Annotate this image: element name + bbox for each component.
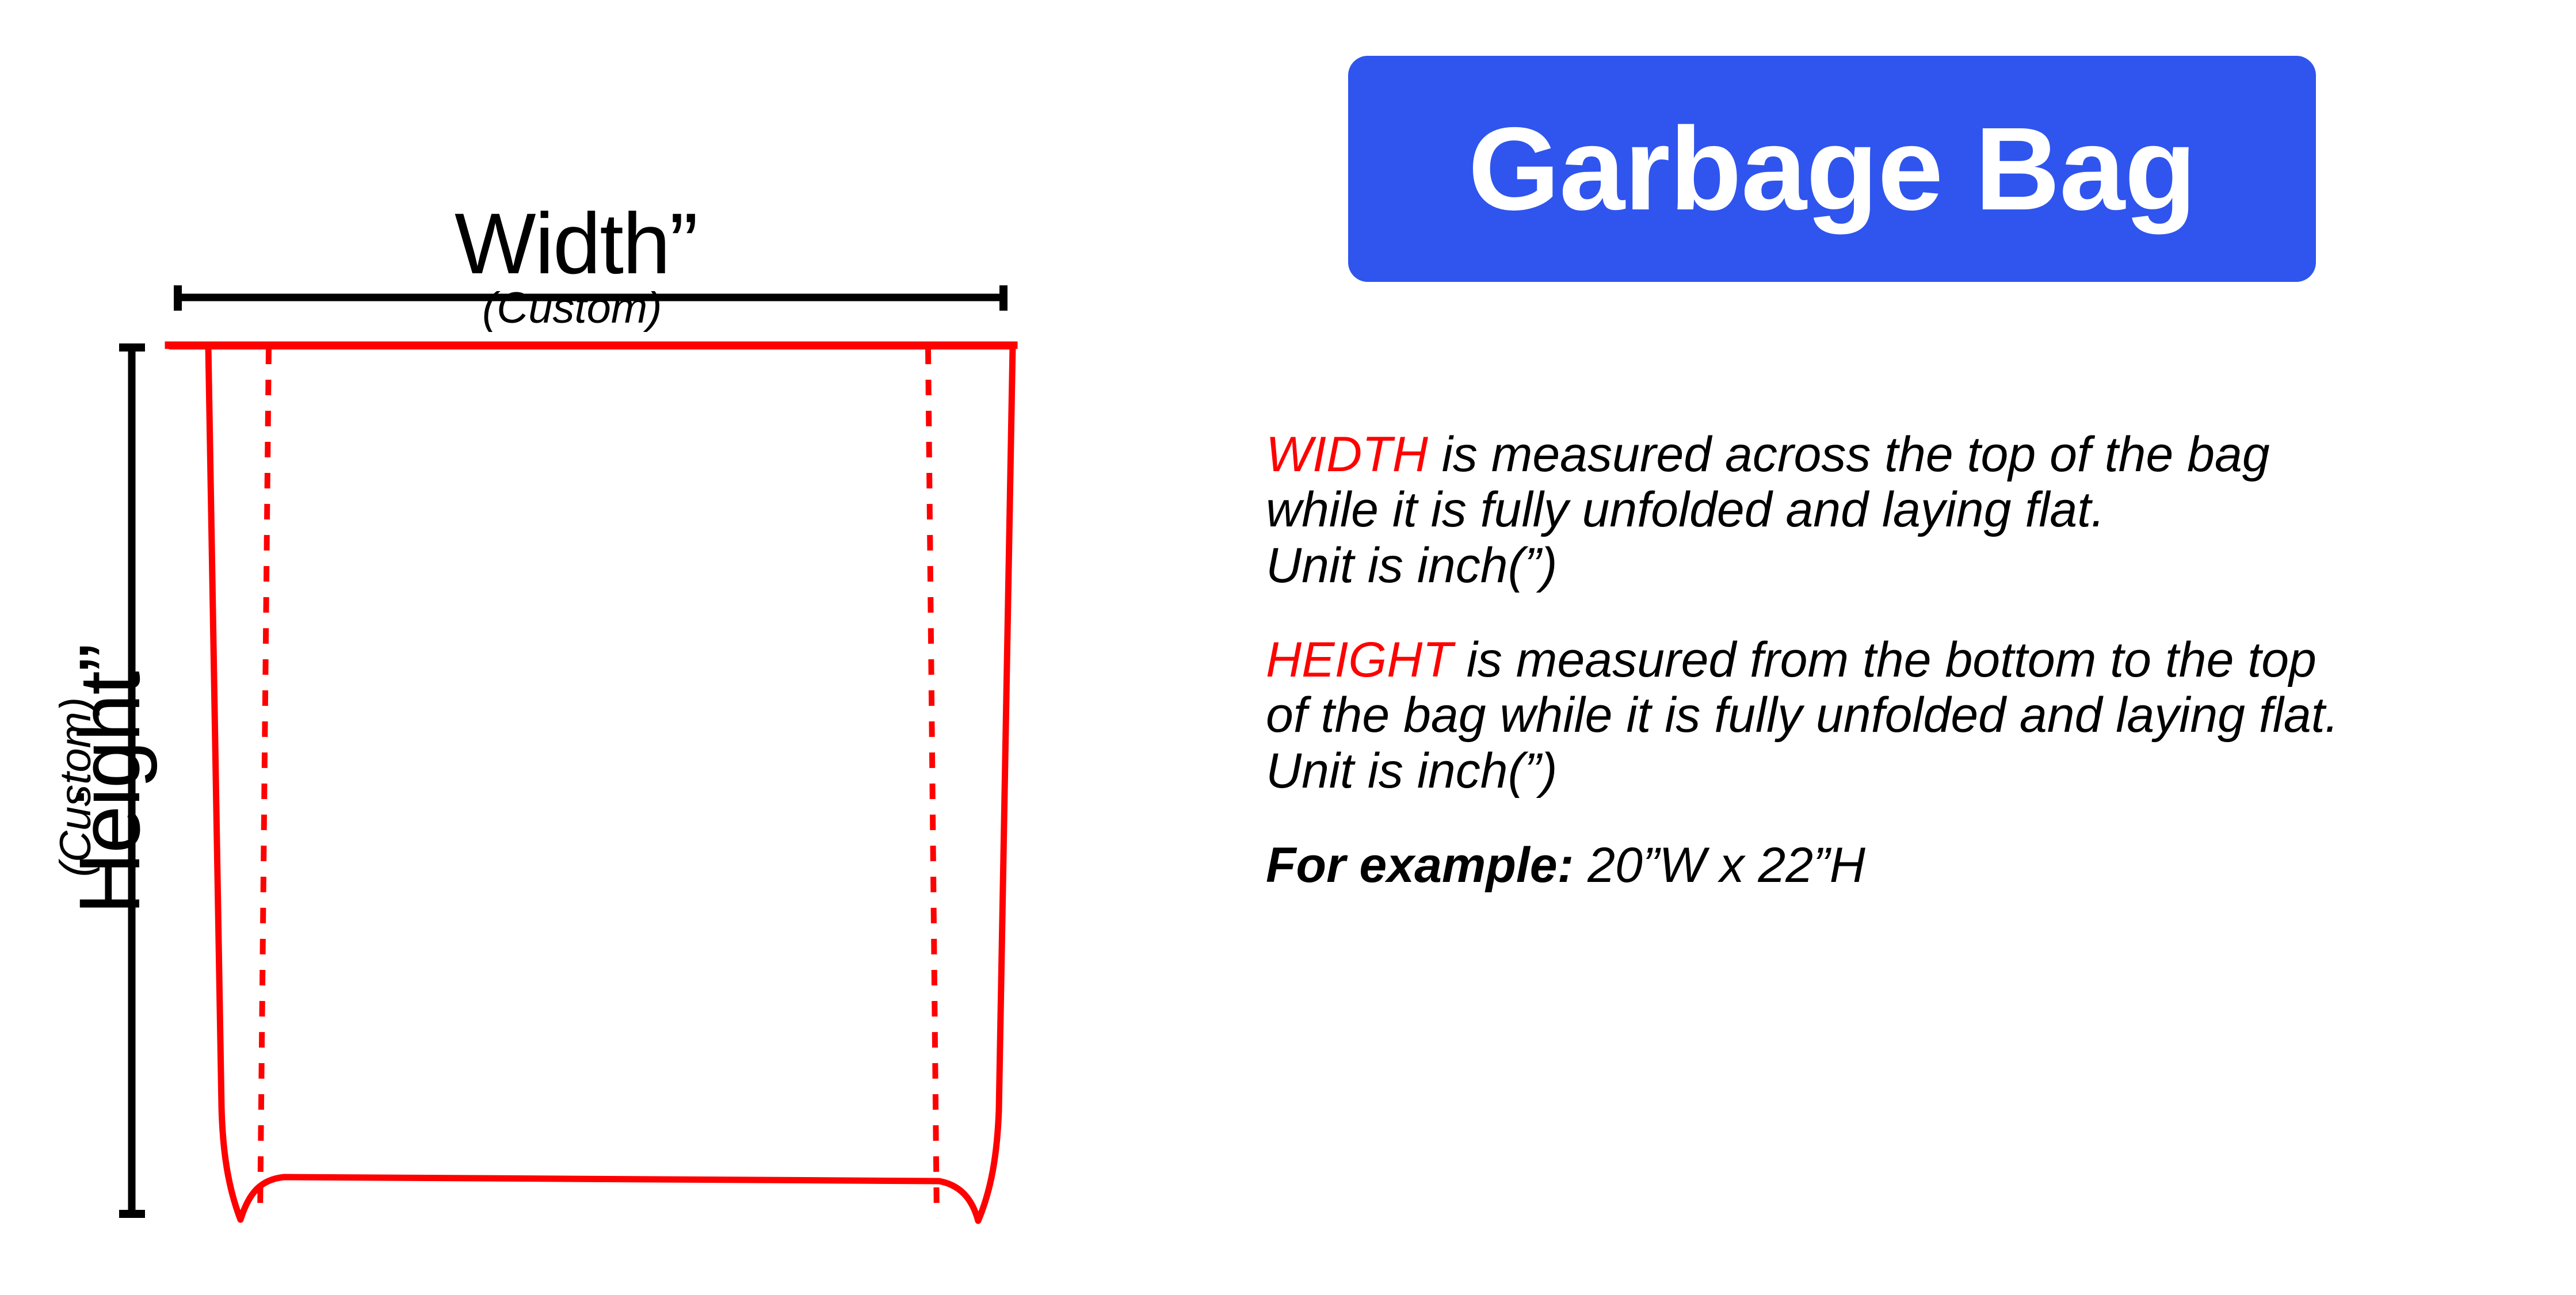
- title-banner: Garbage Bag: [1348, 56, 2316, 282]
- height-instruction-paragraph: HEIGHT is measured from the bottom to th…: [1266, 632, 2566, 799]
- width-instruction-line-1: WIDTH is measured across the top of the …: [1266, 427, 2566, 482]
- bag-diagram: Width” (Custom) Height” (Custom): [0, 0, 1208, 1295]
- example-prefix: For example:: [1266, 838, 1574, 893]
- width-instruction-paragraph: WIDTH is measured across the top of the …: [1266, 427, 2566, 593]
- bag-outline: [169, 345, 1014, 1221]
- height-instruction-line-2: of the bag while it is fully unfolded an…: [1266, 687, 2566, 743]
- example-value: 20”W x 22”H: [1574, 838, 1865, 893]
- height-instruction-line-3: Unit is inch(”): [1266, 743, 2566, 799]
- page-title: Garbage Bag: [1468, 110, 2196, 228]
- bag-diagram-svg: [0, 0, 1208, 1295]
- width-instruction-line-2: while it is fully unfolded and laying fl…: [1266, 482, 2566, 537]
- measurement-guide-page: Width” (Custom) Height” (Custom) Garbage…: [0, 0, 2576, 1295]
- example-paragraph: For example: 20”W x 22”H: [1266, 838, 2566, 893]
- info-panel: Garbage Bag WIDTH is measured across the…: [1208, 0, 2576, 1295]
- height-dimension-line: [119, 347, 145, 1214]
- height-keyword: HEIGHT: [1266, 632, 1453, 687]
- example-line: For example: 20”W x 22”H: [1266, 838, 2566, 893]
- width-keyword: WIDTH: [1266, 427, 1428, 482]
- width-dimension-sublabel: (Custom): [482, 286, 662, 330]
- width-dimension-label: Width”: [455, 200, 697, 286]
- instructions-block: WIDTH is measured across the top of the …: [1266, 427, 2566, 893]
- width-instruction-line-3: Unit is inch(”): [1266, 538, 2566, 593]
- height-instruction-line-1: HEIGHT is measured from the bottom to th…: [1266, 632, 2566, 687]
- width-instruction-line-1-text: is measured across the top of the bag: [1428, 427, 2270, 482]
- height-instruction-line-1-text: is measured from the bottom to the top: [1453, 632, 2317, 687]
